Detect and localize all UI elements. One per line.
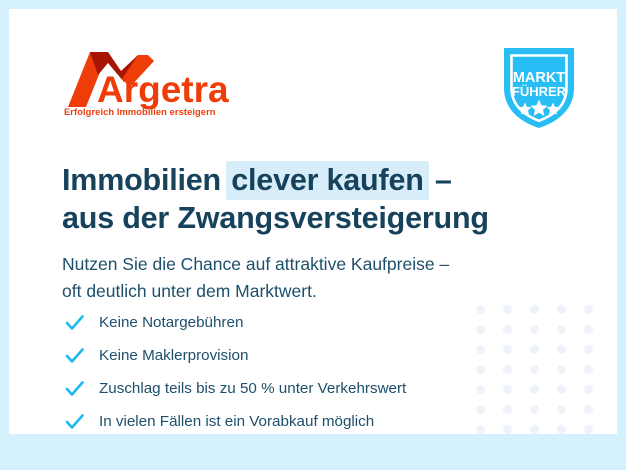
decorative-dot xyxy=(530,365,539,374)
banner-card: Argetra Erfolgreich Immobilien ersteiger… xyxy=(9,9,617,434)
check-icon xyxy=(64,411,85,432)
subheading-line-2: oft deutlich unter dem Marktwert. xyxy=(62,278,449,305)
decorative-dot xyxy=(530,405,539,414)
list-item: Keine Notargebühren xyxy=(64,307,406,337)
decorative-dot xyxy=(503,325,512,334)
list-item: In vielen Fällen ist ein Vorabkauf mögli… xyxy=(64,406,406,434)
benefit-list: Keine Notargebühren Keine Maklerprovisio… xyxy=(64,307,406,434)
dot-grid-decoration xyxy=(476,305,611,434)
decorative-dot xyxy=(530,325,539,334)
decorative-dot xyxy=(584,345,593,354)
decorative-dot xyxy=(584,305,593,314)
decorative-dot xyxy=(584,385,593,394)
decorative-dot xyxy=(476,345,485,354)
decorative-dot xyxy=(503,345,512,354)
headline-text-after: – xyxy=(427,163,452,197)
decorative-dot xyxy=(503,305,512,314)
benefit-label: Zuschlag teils bis zu 50 % unter Verkehr… xyxy=(99,380,406,397)
headline-text-before: Immobilien xyxy=(62,163,229,197)
decorative-dot xyxy=(476,325,485,334)
decorative-dot xyxy=(557,325,566,334)
decorative-dot xyxy=(557,405,566,414)
promo-banner: Argetra Erfolgreich Immobilien ersteiger… xyxy=(0,0,626,470)
decorative-dot xyxy=(557,425,566,434)
market-leader-badge: MARKT FÜHRER xyxy=(498,42,580,130)
decorative-dot xyxy=(476,365,485,374)
decorative-dot xyxy=(530,345,539,354)
argetra-logo[interactable]: Argetra Erfolgreich Immobilien ersteiger… xyxy=(64,49,264,119)
decorative-dot xyxy=(530,305,539,314)
check-icon xyxy=(64,345,85,366)
decorative-dot xyxy=(476,425,485,434)
benefit-label: Keine Notargebühren xyxy=(99,314,243,331)
headline: Immobilien clever kaufen – aus der Zwang… xyxy=(62,162,489,238)
badge-line-2: FÜHRER xyxy=(512,84,567,99)
headline-line-1: Immobilien clever kaufen – xyxy=(62,162,489,200)
subheading: Nutzen Sie die Chance auf attraktive Kau… xyxy=(62,251,449,306)
shield-icon: MARKT FÜHRER xyxy=(498,42,580,130)
decorative-dot xyxy=(530,385,539,394)
decorative-dot xyxy=(476,385,485,394)
decorative-dot xyxy=(503,365,512,374)
argetra-tagline: Erfolgreich Immobilien ersteigern xyxy=(64,107,216,117)
decorative-dot xyxy=(476,405,485,414)
argetra-logo-svg: Argetra Erfolgreich Immobilien ersteiger… xyxy=(64,49,264,119)
list-item: Zuschlag teils bis zu 50 % unter Verkehr… xyxy=(64,373,406,403)
decorative-dot xyxy=(503,405,512,414)
decorative-dot xyxy=(557,345,566,354)
headline-line-2: aus der Zwangsversteigerung xyxy=(62,200,489,238)
decorative-dot xyxy=(584,365,593,374)
subheading-line-1: Nutzen Sie die Chance auf attraktive Kau… xyxy=(62,251,449,278)
list-item: Keine Maklerprovision xyxy=(64,340,406,370)
benefit-label: Keine Maklerprovision xyxy=(99,347,248,364)
decorative-dot xyxy=(530,425,539,434)
benefit-label: In vielen Fällen ist ein Vorabkauf mögli… xyxy=(99,413,374,430)
decorative-dot xyxy=(557,305,566,314)
decorative-dot xyxy=(503,385,512,394)
decorative-dot xyxy=(557,385,566,394)
check-icon xyxy=(64,378,85,399)
decorative-dot xyxy=(584,325,593,334)
decorative-dot xyxy=(476,305,485,314)
decorative-dot xyxy=(557,365,566,374)
decorative-dot xyxy=(584,425,593,434)
check-icon xyxy=(64,312,85,333)
decorative-dot xyxy=(584,405,593,414)
argetra-wordmark: Argetra xyxy=(97,69,229,110)
decorative-dot xyxy=(503,425,512,434)
headline-highlight: clever kaufen xyxy=(226,161,428,200)
